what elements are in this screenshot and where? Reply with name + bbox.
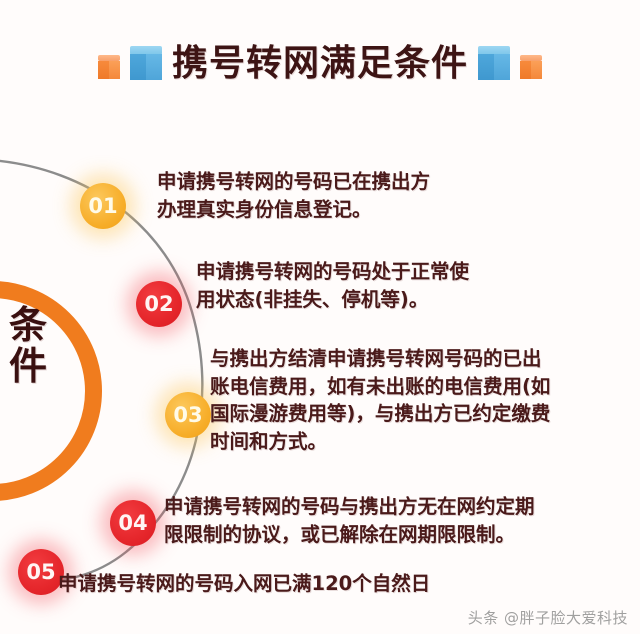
- cube-icon-blue-large-left: [130, 46, 162, 80]
- watermark: 头条 @胖子脸大爱科技: [468, 607, 628, 628]
- item-text-05: 申请携号转网的号码入网已满120个自然日: [58, 570, 528, 598]
- item-badge-04[interactable]: 04: [110, 500, 156, 546]
- cube-icon-orange-small-left: [98, 55, 120, 79]
- item-text-03: 与携出方结清申请携号转网号码的已出 账电信费用，如有未出账的电信费用(如 国际漫…: [210, 345, 630, 456]
- item-badge-03[interactable]: 03: [165, 392, 211, 438]
- item-badge-02[interactable]: 02: [136, 281, 182, 327]
- item-text-04: 申请携号转网的号码与携出方无在网约定期 限限制的协议，或已解除在网期限限制。: [164, 493, 614, 548]
- item-text-02: 申请携号转网的号码处于正常使 用状态(非挂失、停机等)。: [196, 258, 556, 313]
- item-badge-01[interactable]: 01: [80, 183, 126, 229]
- ring-label: 条 件: [0, 305, 56, 387]
- item-text-01: 申请携号转网的号码已在携出方 办理真实身份信息登记。: [157, 168, 517, 223]
- ring-label-line-1: 条: [0, 305, 56, 346]
- header: 携号转网满足条件: [0, 36, 640, 92]
- cube-icon-orange-small-right: [520, 55, 542, 79]
- ring-label-line-2: 件: [0, 346, 56, 387]
- page-title: 携号转网满足条件: [172, 46, 468, 82]
- cube-icon-blue-large-right: [478, 46, 510, 80]
- infographic-page: 携号转网满足条件 条 件 01 02 03 04 05 申请携号转网的号码已在携…: [0, 0, 640, 634]
